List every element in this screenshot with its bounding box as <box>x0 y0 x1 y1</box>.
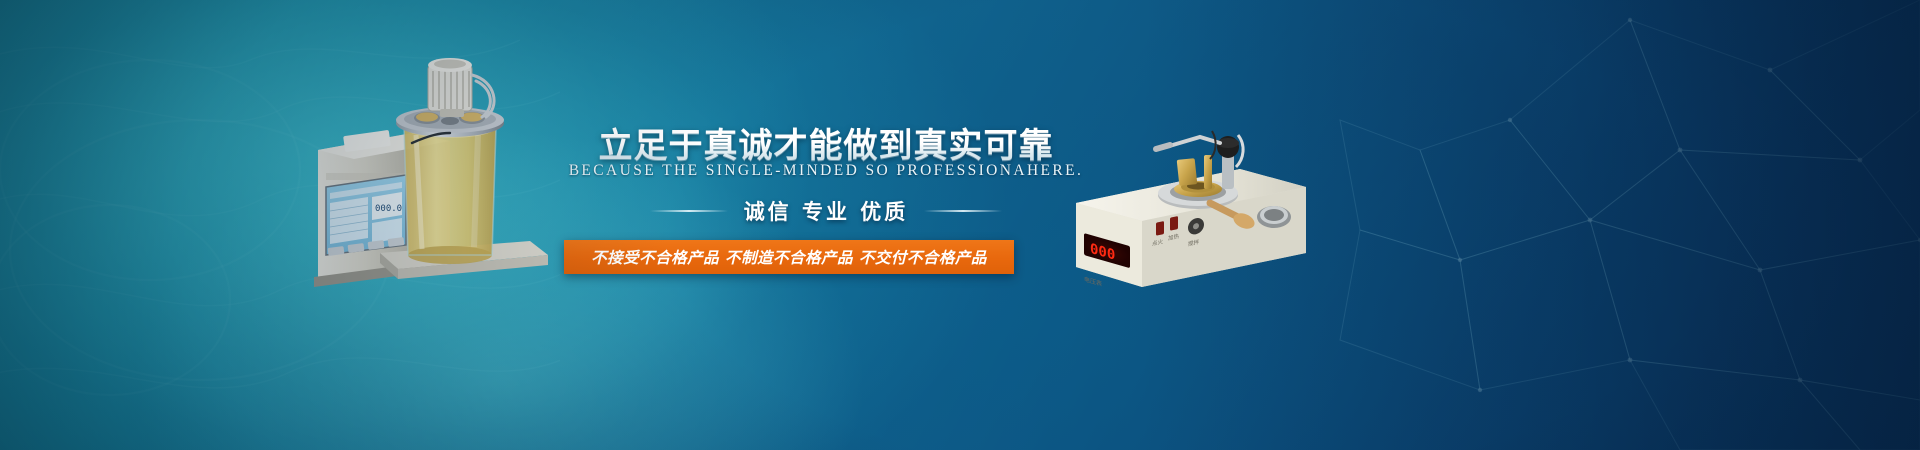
stirrer-motor-head <box>428 58 472 117</box>
rule-line-left <box>650 210 728 212</box>
quality-pledge-text: 不接受不合格产品 不制造不合格产品 不交付不合格产品 <box>591 246 987 268</box>
headline-chinese: 立足于真诚才能做到真实可靠 <box>566 118 1086 167</box>
device-viscosity-bath: 000.0 <box>300 55 550 295</box>
slogan-row: 诚信 专业 优质 <box>566 196 1086 226</box>
sample-well <box>1257 206 1291 228</box>
slogan-keywords: 诚信 专业 优质 <box>744 196 909 226</box>
banner-copy-block: 立足于真诚才能做到真实可靠 BECAUSE THE SINGLE-MINDED … <box>566 0 1086 450</box>
led-label: 电压表 <box>1084 275 1102 288</box>
device-flash-point-tester: 000 电压表 点火加热搅拌 <box>1070 125 1310 295</box>
subheadline-english: BECAUSE THE SINGLE-MINDED SO PROFESSIONA… <box>566 162 1086 180</box>
background-vignette <box>0 0 1920 450</box>
rule-line-right <box>924 210 1002 212</box>
quality-pledge-bar: 不接受不合格产品 不制造不合格产品 不交付不合格产品 <box>564 240 1014 274</box>
glass-oil-bath <box>404 116 496 264</box>
svg-text:000.0: 000.0 <box>375 204 402 214</box>
promo-banner: 000.0 <box>0 0 1920 450</box>
